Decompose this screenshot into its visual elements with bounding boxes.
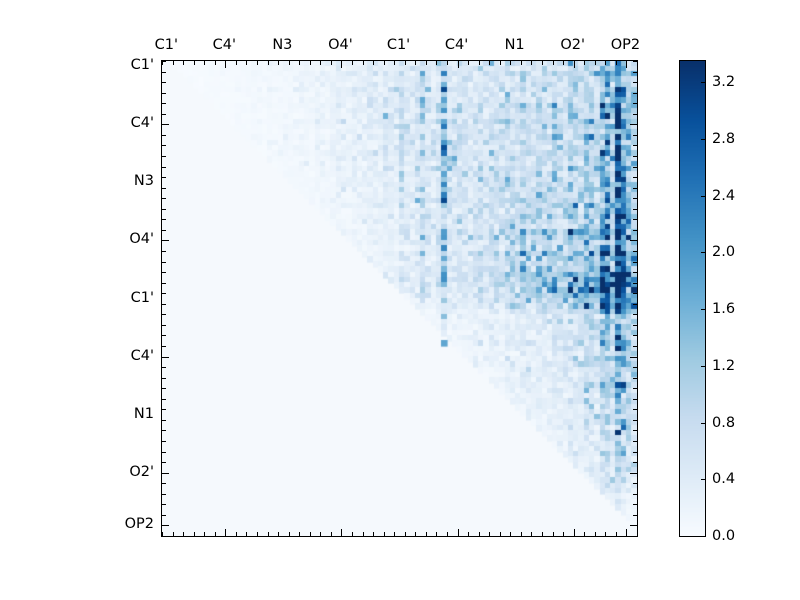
colorbar-gradient (680, 61, 705, 536)
colorbar-label-3: 1.2 (712, 359, 735, 374)
colorbar-label-4: 1.6 (712, 302, 735, 317)
heatmap-axes[interactable] (161, 60, 638, 537)
y-tick-label-6: N1 (99, 406, 154, 421)
colorbar-label-0: 0.0 (712, 529, 735, 544)
x-tick-label-6: N1 (505, 38, 525, 53)
colorbar-tick-0 (701, 536, 705, 537)
colorbar-label-2: 0.8 (712, 416, 735, 431)
x-tick-label-7: O2' (560, 38, 585, 53)
y-tick-label-5: C4' (99, 348, 154, 363)
x-tick-label-8: OP2 (611, 38, 640, 53)
y-tick-label-1: C4' (99, 116, 154, 131)
colorbar-label-7: 2.8 (712, 132, 735, 147)
y-tick-label-2: N3 (99, 174, 154, 189)
x-tick-label-1: C4' (213, 38, 236, 53)
colorbar-label-8: 3.2 (712, 75, 735, 90)
x-tick-label-4: C1' (387, 38, 410, 53)
x-tick-bottom (637, 532, 638, 536)
y-tick-label-4: C1' (99, 290, 154, 305)
y-tick-label-8: OP2 (99, 517, 154, 532)
heatmap-image[interactable] (162, 61, 637, 536)
colorbar-label-6: 2.4 (712, 189, 735, 204)
y-tick-label-3: O4' (99, 232, 154, 247)
y-tick-left (162, 536, 166, 537)
x-tick-label-5: C4' (445, 38, 468, 53)
y-tick-label-0: C1' (99, 58, 154, 73)
x-tick-label-3: O4' (328, 38, 353, 53)
colorbar-label-5: 2.0 (712, 245, 735, 260)
colorbar-label-1: 0.4 (712, 472, 735, 487)
y-tick-label-7: O2' (99, 464, 154, 479)
x-tick-top (637, 61, 638, 65)
colorbar-axes[interactable] (679, 60, 706, 537)
x-tick-label-0: C1' (155, 38, 178, 53)
y-tick-right (633, 536, 637, 537)
x-tick-label-2: N3 (272, 38, 292, 53)
figure-canvas: C1'C4'N3O4'C1'C4'N1O2'OP2 C1'C4'N3O4'C1'… (0, 0, 800, 600)
